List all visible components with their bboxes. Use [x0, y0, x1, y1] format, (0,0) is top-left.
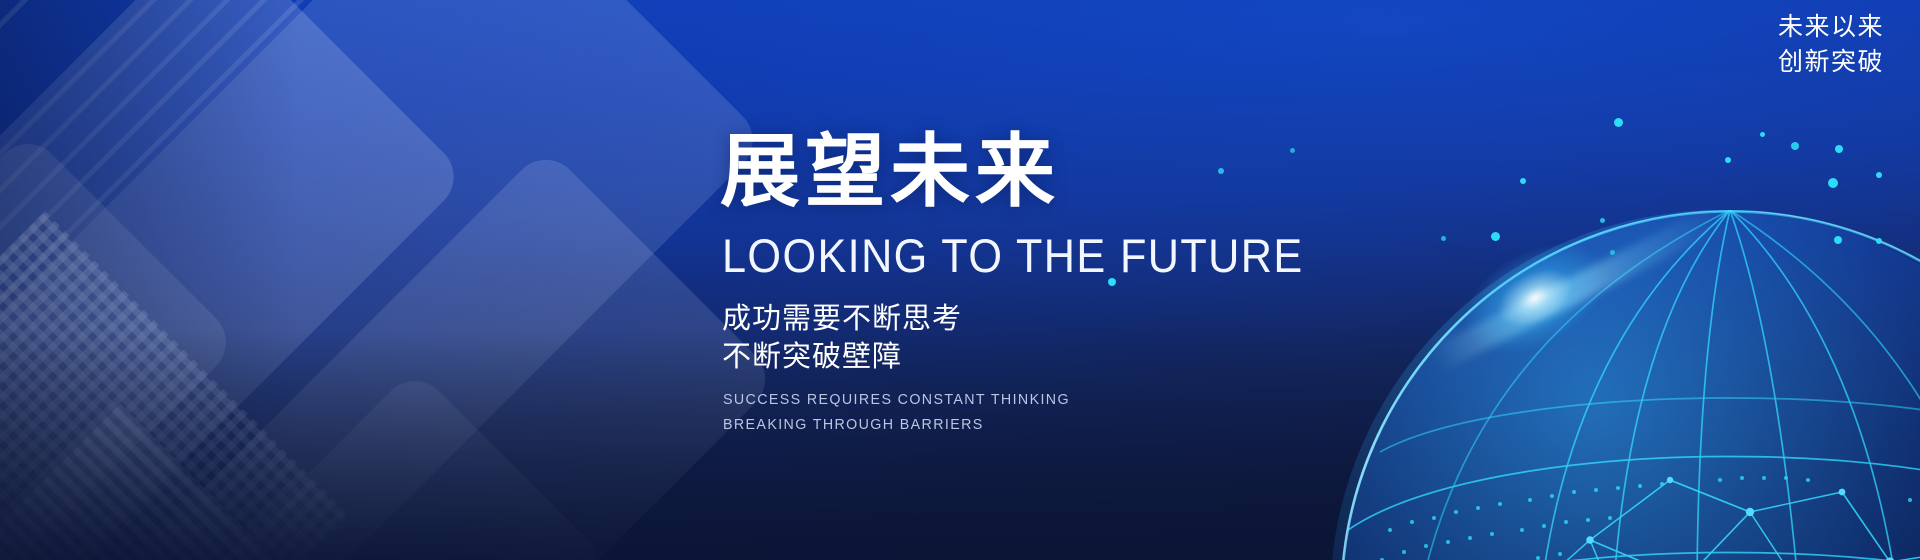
- subtitle-en: SUCCESS REQUIRES CONSTANT THINKING BREAK…: [723, 388, 1323, 437]
- left-vignette: [0, 0, 300, 560]
- corner-slogan-line-1: 未来以来: [1778, 10, 1884, 45]
- subtitle-en-line-2: BREAKING THROUGH BARRIERS: [723, 413, 1323, 437]
- rotated-panel: [0, 0, 767, 560]
- diagonal-geometric-pattern: [0, 0, 760, 560]
- rotated-panel: [0, 130, 240, 560]
- corner-slogan-line-2: 创新突破: [1778, 45, 1884, 80]
- rotated-panel: [0, 0, 468, 560]
- halftone-dot-block: [0, 211, 349, 560]
- corner-slogan: 未来以来 创新突破: [1778, 10, 1884, 79]
- subtitle-cn-line-2: 不断突破壁障: [722, 339, 1354, 377]
- page-title-en: LOOKING TO THE FUTURE: [722, 232, 1304, 279]
- page-title: 展望未来: [720, 132, 1354, 212]
- subtitle-cn-line-1: 成功需要不断思考: [722, 301, 1354, 339]
- hero-banner: 展望未来 LOOKING TO THE FUTURE 成功需要不断思考 不断突破…: [0, 0, 1920, 560]
- subtitle-en-line-1: SUCCESS REQUIRES CONSTANT THINKING: [723, 388, 1323, 412]
- subtitle-cn: 成功需要不断思考 不断突破壁障: [722, 301, 1354, 376]
- rotated-panel: [47, 367, 613, 560]
- halftone-dot-block: [0, 404, 346, 560]
- hero-copy: 展望未来 LOOKING TO THE FUTURE 成功需要不断思考 不断突破…: [720, 132, 1354, 437]
- rotated-panel: [51, 146, 779, 560]
